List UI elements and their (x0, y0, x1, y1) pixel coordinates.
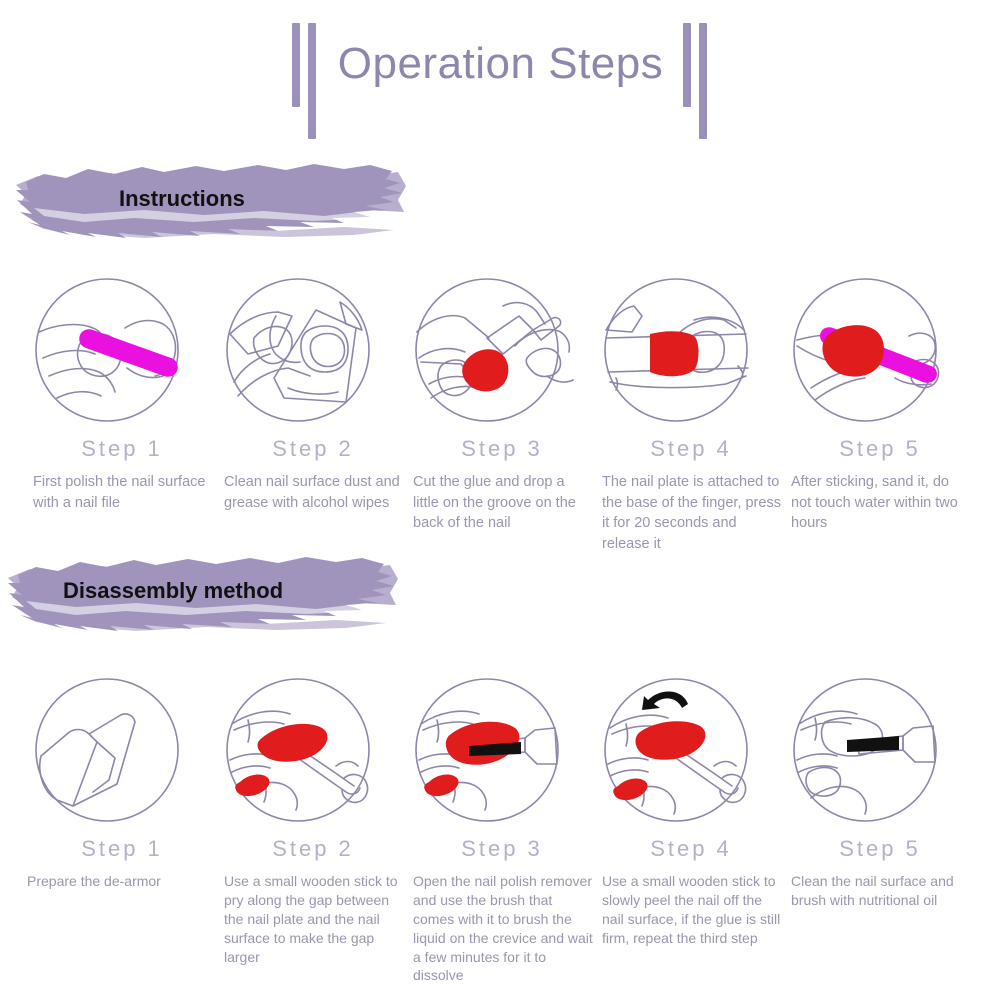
wooden-stick-icon (27, 672, 217, 842)
page-title-text: Operation Steps (324, 18, 677, 86)
step-card: Step 2 Use a small wooden stick to pry a… (218, 672, 408, 966)
polish-remover-brush-icon (407, 672, 597, 842)
page-title: Operation Steps (0, 18, 1001, 138)
step-illustration (27, 672, 217, 842)
step-illustration (785, 672, 975, 842)
step-caption: After sticking, sand it, do not touch wa… (785, 472, 975, 534)
step-illustration (407, 672, 597, 842)
press-nail-plate-icon (596, 272, 786, 442)
red-nail-large-shape (636, 721, 706, 760)
step-card: Step 3 Open the nail polish remover and … (407, 672, 597, 985)
section-banner-disassembly: Disassembly method (6, 545, 406, 637)
step-caption: Clean nail surface dust and grease with … (218, 472, 408, 513)
title-bar-right-short (683, 23, 691, 107)
step-illustration (785, 272, 975, 442)
section-banner-label: Disassembly method (63, 578, 283, 604)
step-card: Step 1 Prepare the de-armor (27, 672, 217, 891)
step-caption: First polish the nail surface with a nai… (27, 472, 217, 513)
step-caption: Cut the glue and drop a little on the gr… (407, 472, 597, 534)
step-card: Step 2 Clean nail surface dust and greas… (218, 272, 408, 513)
red-nail-small-shape (235, 775, 269, 797)
glue-drop-shape (462, 349, 508, 391)
title-bar-right-long (699, 23, 707, 139)
step-caption: Use a small wooden stick to pry along th… (218, 872, 408, 966)
glue-drop-on-nail-icon (407, 272, 597, 442)
step-caption: Prepare the de-armor (27, 872, 217, 891)
title-bar-left-short (292, 23, 300, 107)
step-illustration (218, 272, 408, 442)
step-card: Step 5 Clean the nail surface and brush … (785, 672, 975, 910)
step-card: Step 5 After sticking, sand it, do not t… (785, 272, 975, 534)
section-banner-label: Instructions (119, 186, 245, 212)
step-card: Step 1 First polish the nail surface wit… (27, 272, 217, 513)
red-nail-small-shape (424, 775, 458, 797)
step-illustration (218, 672, 408, 842)
brush-nutritional-oil-icon (785, 672, 975, 842)
title-bar-left-long (308, 23, 316, 139)
step-illustration (27, 272, 217, 442)
peel-nail-arrow-icon (596, 672, 786, 842)
step-card: Step 3 Cut the glue and drop a little on… (407, 272, 597, 534)
step-illustration (596, 672, 786, 842)
step-card: Step 4 The nail plate is attached to the… (596, 272, 786, 554)
pry-gap-stick-icon (218, 672, 408, 842)
step-caption: Open the nail polish remover and use the… (407, 872, 597, 985)
nail-plate-shape (650, 331, 699, 376)
step-caption: Use a small wooden stick to slowly peel … (596, 872, 786, 948)
hand-nail-file-icon (27, 272, 217, 442)
hand-alcohol-wipe-icon (218, 272, 408, 442)
brush-tip-shape (847, 736, 899, 752)
title-decor-left (276, 18, 324, 138)
sand-nail-file-icon (785, 272, 975, 442)
infographic-page: Operation Steps Instructions (0, 0, 1001, 1001)
red-nail-small-shape (613, 779, 647, 801)
step-illustration (596, 272, 786, 442)
step-card: Step 4 Use a small wooden stick to slowl… (596, 672, 786, 948)
red-nail-shape (822, 325, 884, 377)
title-decor-right (677, 18, 725, 138)
red-nail-large-shape (258, 724, 328, 762)
step-caption: Clean the nail surface and brush with nu… (785, 872, 975, 910)
step-caption: The nail plate is attached to the base o… (596, 472, 786, 554)
section-banner-instructions: Instructions (14, 152, 414, 244)
step-illustration (407, 272, 597, 442)
curved-arrow-icon (642, 691, 688, 710)
